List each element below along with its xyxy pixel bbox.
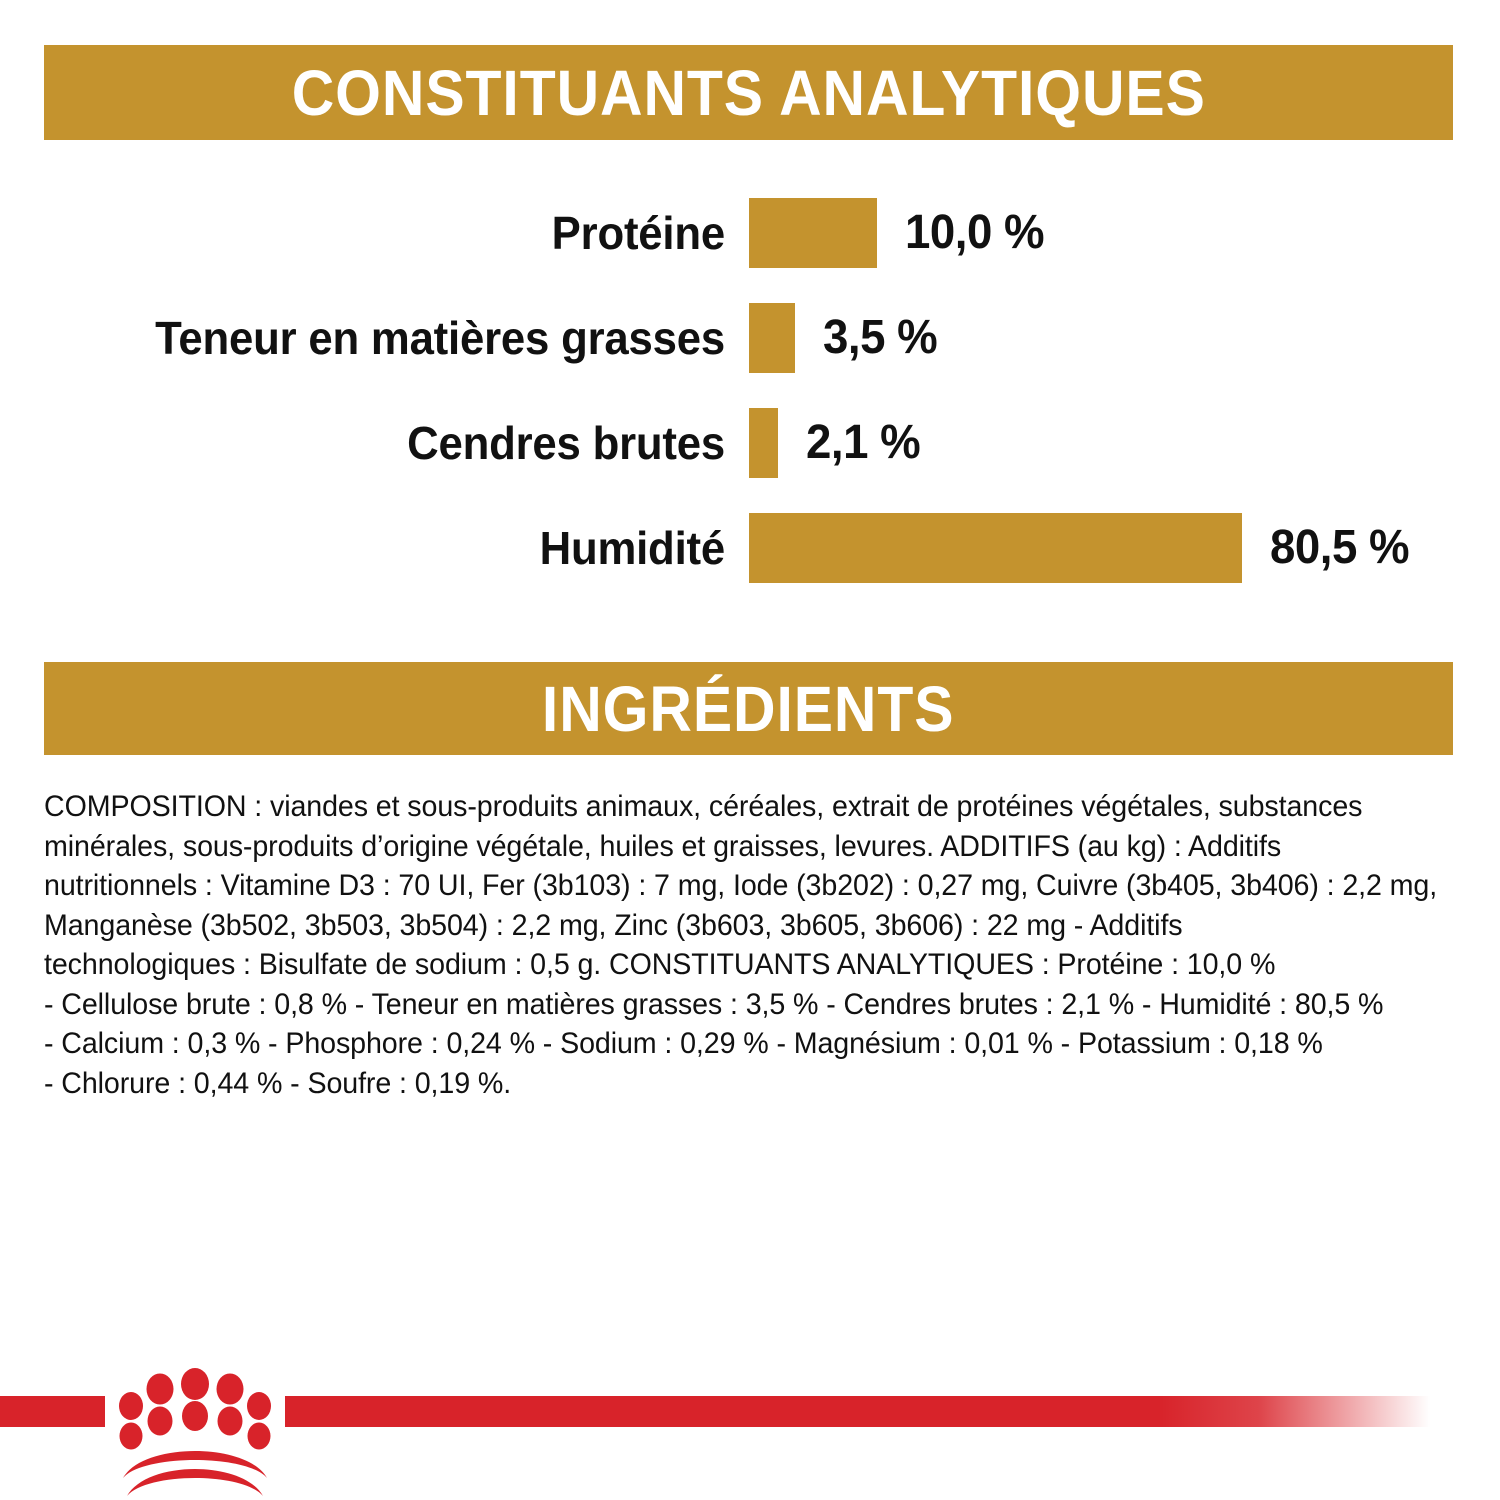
composition-text-block: COMPOSITION : viandes et sous-produits a… bbox=[44, 787, 1414, 1103]
product-label-page: CONSTITUANTS ANALYTIQUES Protéine 10,0 %… bbox=[0, 0, 1500, 1500]
nutrient-label-matieres-grasses: Teneur en matières grasses bbox=[36, 311, 725, 365]
nutrient-label-cendres-brutes: Cendres brutes bbox=[36, 416, 725, 470]
nutrient-value-proteine: 10,0 % bbox=[905, 205, 1044, 260]
nutrient-label-proteine: Protéine bbox=[36, 206, 725, 260]
nutrient-value-humidite: 80,5 % bbox=[1270, 520, 1409, 575]
nutrient-bar-matieres-grasses bbox=[749, 303, 795, 373]
nutrient-bar-group: 3,5 % bbox=[749, 285, 943, 390]
section-title-ingredients: INGRÉDIENTS bbox=[542, 677, 955, 741]
composition-line: minérales, sous-produits d’origine végét… bbox=[44, 827, 1414, 867]
nutrient-value-cendres-brutes: 2,1 % bbox=[806, 415, 920, 470]
composition-line: - Chlorure : 0,44 % - Soufre : 0,19 %. bbox=[44, 1064, 1414, 1104]
nutrient-bar-cendres-brutes bbox=[749, 408, 778, 478]
composition-line: nutritionnels : Vitamine D3 : 70 UI, Fer… bbox=[44, 866, 1414, 906]
composition-line: COMPOSITION : viandes et sous-produits a… bbox=[44, 787, 1414, 827]
nutrient-row: Cendres brutes 2,1 % bbox=[0, 390, 1500, 495]
nutrient-bar-group: 10,0 % bbox=[749, 180, 1051, 285]
royal-canin-crown-icon bbox=[105, 1368, 285, 1500]
nutrient-row: Humidité 80,5 % bbox=[0, 495, 1500, 600]
composition-line: - Cellulose brute : 0,8 % - Teneur en ma… bbox=[44, 985, 1414, 1025]
nutrient-bar-proteine bbox=[749, 198, 877, 268]
nutrient-label-humidite: Humidité bbox=[36, 521, 725, 575]
nutrient-row: Teneur en matières grasses 3,5 % bbox=[0, 285, 1500, 390]
section-title-analytical: CONSTITUANTS ANALYTIQUES bbox=[291, 61, 1205, 125]
section-header-analytical-constituents: CONSTITUANTS ANALYTIQUES bbox=[44, 45, 1453, 140]
nutrient-value-matieres-grasses: 3,5 % bbox=[823, 310, 937, 365]
composition-line: technologiques : Bisulfate de sodium : 0… bbox=[44, 945, 1414, 985]
composition-line: - Calcium : 0,3 % - Phosphore : 0,24 % -… bbox=[44, 1024, 1414, 1064]
nutrient-bar-group: 80,5 % bbox=[749, 495, 1416, 600]
composition-line: Manganèse (3b502, 3b503, 3b504) : 2,2 mg… bbox=[44, 906, 1414, 946]
nutrient-row: Protéine 10,0 % bbox=[0, 180, 1500, 285]
analytical-constituents-chart: Protéine 10,0 % Teneur en matières grass… bbox=[0, 180, 1500, 600]
nutrient-bar-group: 2,1 % bbox=[749, 390, 926, 495]
section-header-ingredients: INGRÉDIENTS bbox=[44, 662, 1453, 755]
nutrient-bar-humidite bbox=[749, 513, 1242, 583]
